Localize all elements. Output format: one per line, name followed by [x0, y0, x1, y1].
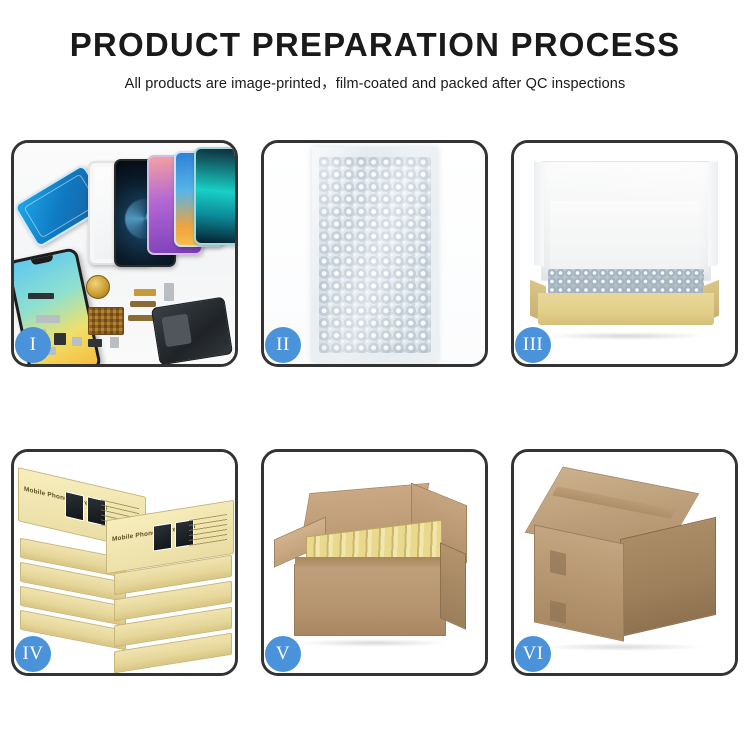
- sealed-carton-shadow: [542, 643, 702, 651]
- box-print-screen: [65, 491, 84, 521]
- page-title: PRODUCT PREPARATION PROCESS: [0, 28, 750, 63]
- step-badge-5: V: [265, 636, 301, 672]
- part-tool: [164, 283, 174, 301]
- step-badge-3: III: [515, 327, 551, 363]
- step-badge-2: II: [265, 327, 301, 363]
- box-print-screen: [153, 523, 172, 552]
- step-badge-1: I: [15, 327, 51, 363]
- carton-drop-shadow: [298, 639, 448, 647]
- page-subtitle: All products are image-printed，film-coat…: [0, 72, 750, 93]
- step-image-4: Mobile Phone Spare Parts Mobile Phone Sp…: [14, 452, 235, 673]
- part-flex-cable: [130, 301, 156, 307]
- part-screw-pack: [110, 337, 119, 348]
- stacked-boxes-illustration: Mobile Phone Spare Parts Mobile Phone Sp…: [14, 452, 235, 673]
- filled-carton-illustration: [264, 452, 485, 673]
- step-image-3: [514, 143, 735, 364]
- phone-back-housing: [151, 297, 233, 364]
- step-image-1: [14, 143, 235, 364]
- step-badge-4: IV: [15, 636, 51, 672]
- part-camera: [54, 333, 66, 345]
- part-connector: [36, 315, 60, 323]
- carton-side-panel: [440, 542, 466, 630]
- step-panel-3: III: [511, 140, 738, 367]
- step-image-6: [514, 452, 735, 673]
- sealed-carton-tab: [550, 600, 566, 623]
- step-panel-6: VI: [511, 449, 738, 676]
- step-image-2: [264, 143, 485, 364]
- part-chip-icon: [88, 307, 124, 335]
- sealed-carton-tab: [550, 550, 566, 575]
- step-panel-4: Mobile Phone Spare Parts Mobile Phone Sp…: [11, 449, 238, 676]
- carton-front-panel: [294, 564, 446, 636]
- part-button: [88, 339, 102, 347]
- header: PRODUCT PREPARATION PROCESS All products…: [0, 28, 750, 93]
- step-badge-6: VI: [515, 636, 551, 672]
- box-foam-liner: [550, 201, 700, 273]
- sealed-carton-illustration: [514, 452, 735, 673]
- part-gold-strip: [134, 289, 156, 296]
- product-preparation-page: PRODUCT PREPARATION PROCESS All products…: [0, 0, 750, 750]
- part-speaker: [72, 337, 82, 346]
- step-image-5: [264, 452, 485, 673]
- process-steps-grid: I II: [11, 140, 739, 674]
- box-drop-shadow: [544, 332, 708, 340]
- open-kraft-box-illustration: [514, 143, 735, 364]
- bubble-pattern: [319, 157, 431, 353]
- box-front-panel: [538, 293, 714, 325]
- step-panel-1: I: [11, 140, 238, 367]
- part-strip: [28, 293, 54, 299]
- step-panel-2: II: [261, 140, 488, 367]
- phone-screens-illustration: [14, 143, 235, 364]
- sealed-carton-side: [620, 517, 716, 637]
- box-print-text-lines: [189, 514, 227, 546]
- phone-fan-group: [14, 143, 235, 280]
- step-panel-5: V: [261, 449, 488, 676]
- part-coil-icon: [86, 275, 110, 299]
- bubble-wrap-illustration: [264, 143, 485, 364]
- phone-screen-teal: [194, 147, 235, 245]
- sealed-carton-front: [534, 524, 624, 641]
